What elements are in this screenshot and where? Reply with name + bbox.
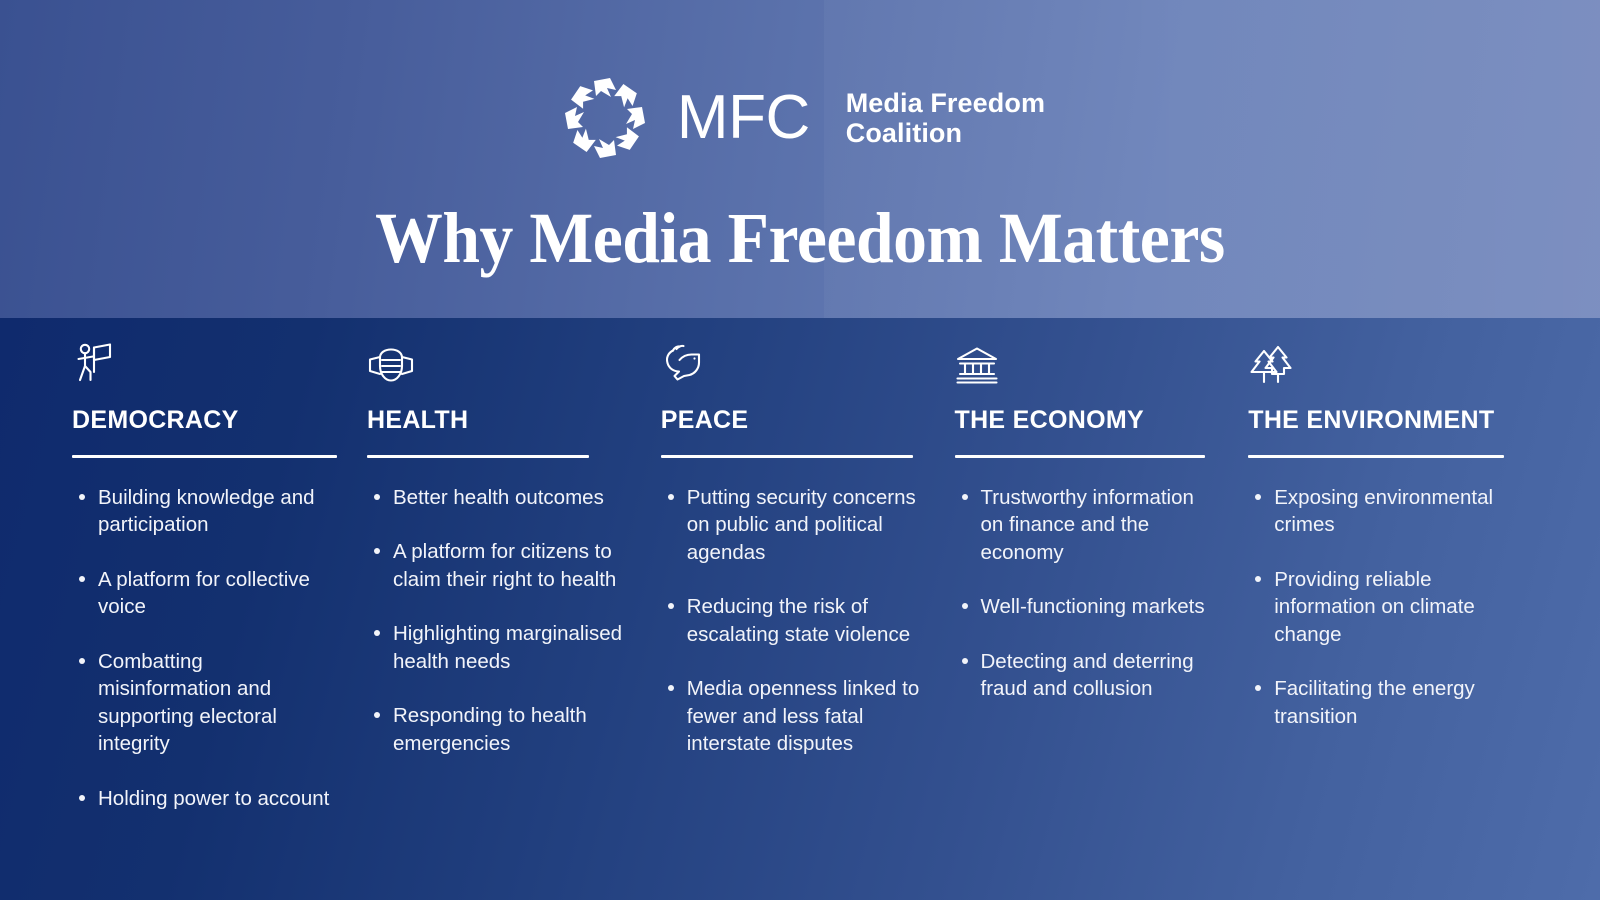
brand-lockup: MFC Media Freedom Coalition [555, 68, 1045, 168]
dove-icon [661, 342, 925, 384]
column-peace: PEACE Putting security concerns on publi… [661, 318, 955, 900]
category-columns: DEMOCRACY Building knowledge and partici… [0, 318, 1600, 900]
bullet-list-economy: Trustworthy information on finance and t… [955, 484, 1219, 730]
list-item: Putting security concerns on public and … [661, 484, 925, 566]
brand-abbreviation: MFC [677, 87, 810, 149]
list-item: Highlighting marginalised health needs [367, 620, 631, 675]
list-item: Providing reliable information on climat… [1248, 566, 1510, 648]
bullet-list-health: Better health outcomes A platform for ci… [367, 484, 631, 784]
face-mask-icon [367, 342, 631, 384]
poster-canvas: MFC Media Freedom Coalition Why Media Fr… [0, 0, 1600, 900]
brand-name-line-2: Coalition [846, 118, 1045, 148]
column-democracy: DEMOCRACY Building knowledge and partici… [72, 318, 367, 900]
bullet-list-peace: Putting security concerns on public and … [661, 484, 925, 785]
page-title: Why Media Freedom Matters [375, 202, 1225, 274]
poster-header: MFC Media Freedom Coalition Why Media Fr… [0, 0, 1600, 318]
list-item: Combatting misinformation and supporting… [72, 648, 337, 758]
list-item: Well-functioning markets [955, 593, 1217, 620]
column-heading-economy: THE ECONOMY [955, 408, 1219, 433]
list-item: Trustworthy information on finance and t… [955, 484, 1217, 566]
column-rule [661, 455, 913, 458]
list-item: Building knowledge and participation [72, 484, 337, 539]
mfc-circular-birds-logo-icon [555, 68, 655, 168]
column-heading-health: HEALTH [367, 408, 631, 433]
list-item: Reducing the risk of escalating state vi… [661, 593, 925, 648]
column-economy: THE ECONOMY Trustworthy information on f… [955, 318, 1249, 900]
column-environment: THE ENVIRONMENT Exposing environmental c… [1248, 318, 1542, 900]
column-health: HEALTH Better health outcomes A platform… [367, 318, 661, 900]
list-item: Exposing environmental crimes [1248, 484, 1510, 539]
brand-name-line-1: Media Freedom [846, 88, 1045, 118]
list-item: A platform for collective voice [72, 566, 337, 621]
list-item: Better health outcomes [367, 484, 631, 511]
pine-trees-icon [1248, 342, 1512, 384]
bullet-list-environment: Exposing environmental crimes Providing … [1248, 484, 1512, 757]
list-item: Responding to health emergencies [367, 702, 631, 757]
column-rule [72, 455, 337, 458]
list-item: Holding power to account [72, 785, 337, 812]
list-item: Media openness linked to fewer and less … [661, 675, 925, 757]
column-rule [955, 455, 1205, 458]
bullet-list-democracy: Building knowledge and participation A p… [72, 484, 337, 839]
list-item: Detecting and deterring fraud and collus… [955, 648, 1217, 703]
bank-building-icon [955, 342, 1219, 384]
column-rule [367, 455, 589, 458]
list-item: Facilitating the energy transition [1248, 675, 1510, 730]
brand-full-name: Media Freedom Coalition [846, 88, 1045, 148]
column-rule [1248, 455, 1504, 458]
list-item: A platform for citizens to claim their r… [367, 538, 631, 593]
column-heading-environment: THE ENVIRONMENT [1248, 408, 1512, 433]
column-heading-peace: PEACE [661, 408, 925, 433]
column-heading-democracy: DEMOCRACY [72, 408, 337, 433]
protester-with-flag-icon [72, 342, 337, 384]
